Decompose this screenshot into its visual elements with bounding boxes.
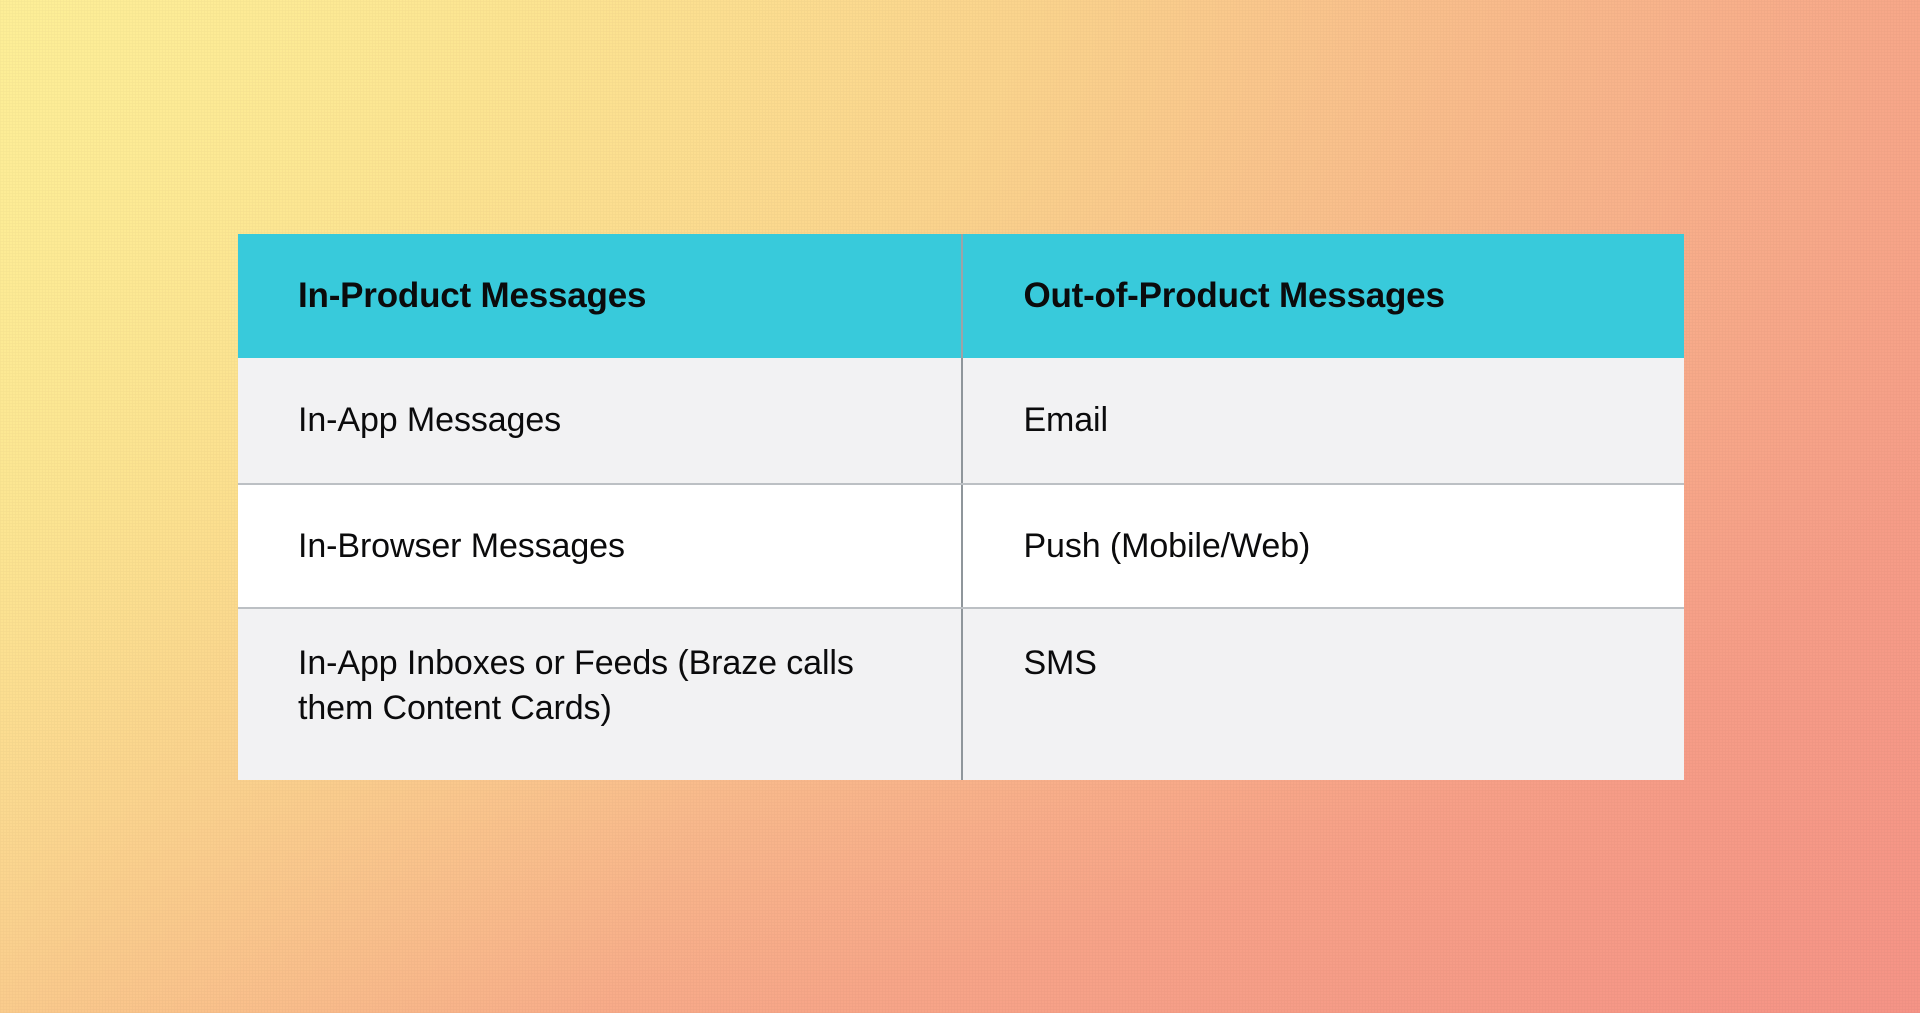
cell-out-of-product-1: Email <box>962 358 1684 484</box>
table-row: In-App Inboxes or Feeds (Braze calls the… <box>238 608 1684 780</box>
comparison-table-container: In-Product Messages Out-of-Product Messa… <box>238 234 1684 780</box>
table-header-row: In-Product Messages Out-of-Product Messa… <box>238 234 1684 358</box>
cell-in-product-3-text: In-App Inboxes or Feeds (Braze calls the… <box>298 641 898 731</box>
page-canvas: In-Product Messages Out-of-Product Messa… <box>0 0 1920 1013</box>
comparison-table: In-Product Messages Out-of-Product Messa… <box>238 234 1684 780</box>
cell-out-of-product-2: Push (Mobile/Web) <box>962 484 1684 608</box>
cell-in-product-3: In-App Inboxes or Feeds (Braze calls the… <box>238 608 962 780</box>
cell-in-product-2: In-Browser Messages <box>238 484 962 608</box>
cell-in-product-1: In-App Messages <box>238 358 962 484</box>
table-header: In-Product Messages Out-of-Product Messa… <box>238 234 1684 358</box>
column-header-in-product: In-Product Messages <box>238 234 962 358</box>
column-header-out-of-product: Out-of-Product Messages <box>962 234 1684 358</box>
cell-out-of-product-3: SMS <box>962 608 1684 780</box>
table-row: In-App Messages Email <box>238 358 1684 484</box>
table-body: In-App Messages Email In-Browser Message… <box>238 358 1684 780</box>
table-row: In-Browser Messages Push (Mobile/Web) <box>238 484 1684 608</box>
